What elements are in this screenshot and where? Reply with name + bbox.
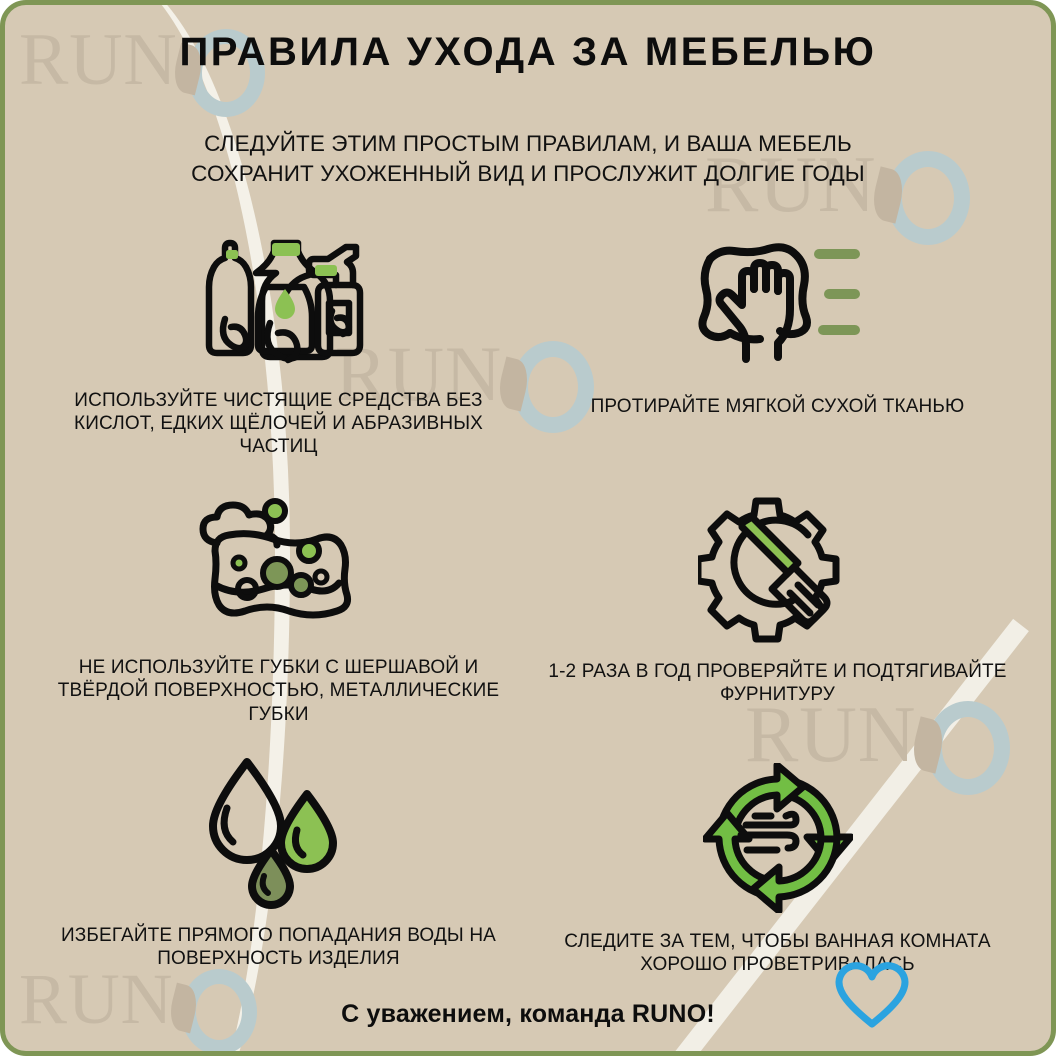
tip-caption: ИСПОЛЬЗУЙТЕ ЧИСТЯЩИЕ СРЕДСТВА БЕЗ КИСЛОТ… [44,389,514,459]
tip-caption: СЛЕДИТЕ ЗА ТЕМ, ЧТОБЫ ВАННАЯ КОМНАТА ХОР… [543,930,1013,976]
infographic-poster: RUN RUN RUN RUN [0,0,1056,1056]
hand-with-cloth-icon [688,228,868,383]
subtitle-line-1: СЛЕДУЙТЕ ЭТИМ ПРОСТЫМ ПРАВИЛАМ, И ВАША М… [108,129,948,159]
sponge-icon [189,484,369,644]
tip-tighten-hardware: 1-2 РАЗА В ГОД ПРОВЕРЯЙТЕ И ПОДТЯГИВАЙТЕ… [528,484,1027,726]
gear-screwdriver-icon [698,488,858,648]
page-title: ПРАВИЛА УХОДА ЗА МЕБЕЛЬЮ [5,29,1051,75]
tip-no-rough-sponges: НЕ ИСПОЛЬЗУЙТЕ ГУБКИ С ШЕРШАВОЙ И ТВЁРДО… [29,484,528,726]
subtitle-line-2: СОХРАНИТ УХОЖЕННЫЙ ВИД И ПРОСЛУЖИТ ДОЛГИ… [108,159,948,189]
tip-caption: ИЗБЕГАЙТЕ ПРЯМОГО ПОПАДАНИЯ ВОДЫ НА ПОВЕ… [44,924,514,970]
footer-signature: С уважением, команда RUNO! [341,1000,715,1029]
tip-ventilate-bathroom: СЛЕДИТЕ ЗА ТЕМ, ЧТОБЫ ВАННАЯ КОМНАТА ХОР… [528,752,1027,976]
water-drops-icon [189,752,369,912]
tip-cleaning-agents: ИСПОЛЬЗУЙТЕ ЧИСТЯЩИЕ СРЕДСТВА БЕЗ КИСЛОТ… [29,222,528,459]
poster-header: ПРАВИЛА УХОДА ЗА МЕБЕЛЬЮ СЛЕДУЙТЕ ЭТИМ П… [5,5,1051,190]
air-circulation-icon [703,758,853,918]
cleaning-bottles-icon [184,222,374,377]
heart-outline-icon [833,960,911,1037]
tips-grid-row-1: ИСПОЛЬЗУЙТЕ ЧИСТЯЩИЕ СРЕДСТВА БЕЗ КИСЛОТ… [5,222,1051,459]
tips-grid-row-2: НЕ ИСПОЛЬЗУЙТЕ ГУБКИ С ШЕРШАВОЙ И ТВЁРДО… [5,484,1051,726]
tip-caption: 1-2 РАЗА В ГОД ПРОВЕРЯЙТЕ И ПОДТЯГИВАЙТЕ… [543,660,1013,706]
tip-caption: ПРОТИРАЙТЕ МЯГКОЙ СУХОЙ ТКАНЬЮ [591,395,965,418]
poster-subtitle: СЛЕДУЙТЕ ЭТИМ ПРОСТЫМ ПРАВИЛАМ, И ВАША М… [108,129,948,190]
tips-grid-row-3: ИЗБЕГАЙТЕ ПРЯМОГО ПОПАДАНИЯ ВОДЫ НА ПОВЕ… [5,752,1051,976]
tip-soft-dry-cloth: ПРОТИРАЙТЕ МЯГКОЙ СУХОЙ ТКАНЬЮ [528,222,1027,459]
tip-avoid-direct-water: ИЗБЕГАЙТЕ ПРЯМОГО ПОПАДАНИЯ ВОДЫ НА ПОВЕ… [29,752,528,976]
poster-footer: С уважением, команда RUNO! [5,1000,1051,1029]
tip-caption: НЕ ИСПОЛЬЗУЙТЕ ГУБКИ С ШЕРШАВОЙ И ТВЁРДО… [44,656,514,726]
